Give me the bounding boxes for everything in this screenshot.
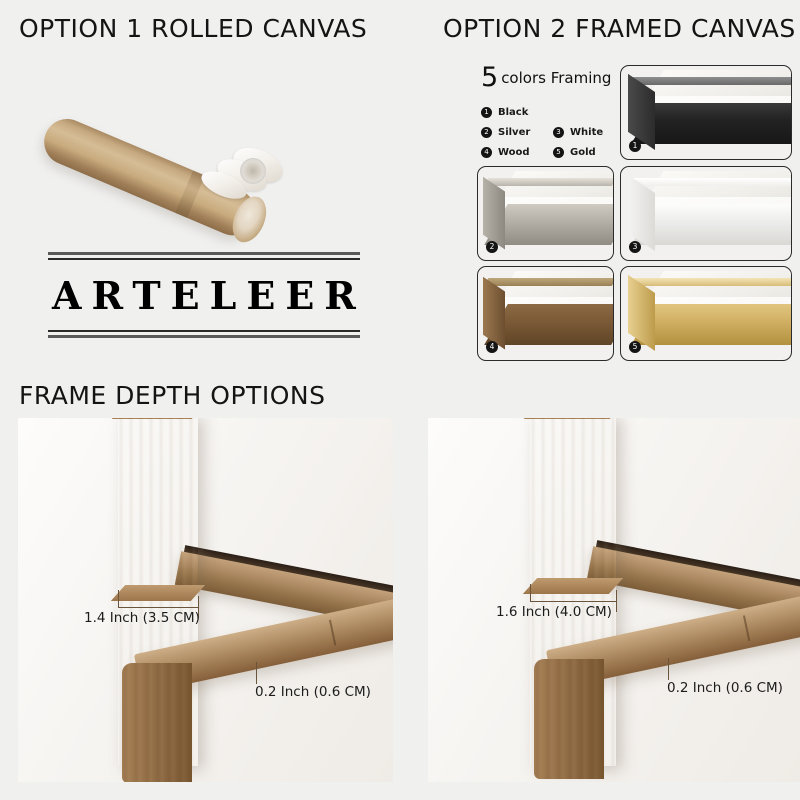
thickness-dimension-tick (256, 662, 257, 684)
frame-profile-end-cap (122, 663, 192, 782)
frame-corner-render (478, 267, 613, 360)
frame-top-edge (484, 278, 614, 286)
tube-end-cap (226, 191, 272, 247)
legend-title-text: colors Framing (501, 69, 611, 87)
legend-label: White (570, 127, 603, 138)
depth-dimension-tick (530, 584, 531, 602)
depth-dimension-label: 1.6 Inch (4.0 CM) (496, 604, 612, 620)
frame-front-face (631, 204, 792, 245)
depth-dimension-line (530, 601, 616, 602)
thickness-dimension-label: 0.2 Inch (0.6 CM) (667, 680, 783, 696)
tile-badge-4-icon: 4 (486, 341, 498, 353)
badge-1-icon: 1 (481, 107, 492, 118)
frame-sample-gold[interactable]: 5 (620, 266, 792, 361)
frame-side-return (483, 276, 505, 348)
frame-corner-render (478, 167, 613, 260)
depth-dimension-tick (616, 590, 617, 612)
rolled-canvas-illustration (40, 58, 302, 198)
logo-rule-bottom (48, 330, 360, 338)
depth-dimension-line (118, 607, 198, 608)
frame-corner-render (621, 167, 791, 260)
tile-badge-1-icon: 1 (629, 140, 641, 152)
badge-2-icon: 2 (481, 127, 492, 138)
frame-sample-black[interactable]: 1 (620, 65, 792, 160)
frame-top-edge (629, 77, 792, 85)
logo-rule-top (48, 252, 360, 260)
frame-top-edge (484, 178, 614, 186)
frame-sample-wood[interactable]: 4 (477, 266, 614, 361)
stile-bottom-mitre (523, 578, 623, 594)
thickness-dimension-tick (668, 658, 669, 680)
badge-4-icon: 4 (481, 147, 492, 158)
legend-item-wood[interactable]: 4 Wood (481, 147, 553, 158)
frame-colors-legend: 5colors Framing 1 Black 2 Silver 3 White… (481, 62, 626, 167)
legend-item-gold[interactable]: 5 Gold (553, 147, 625, 158)
legend-item-black[interactable]: 1 Black (481, 107, 553, 118)
depth-dimension-tick (118, 590, 119, 608)
frame-front-face (631, 103, 792, 144)
badge-5-icon: 5 (553, 147, 564, 158)
frame-side-return (483, 176, 505, 248)
legend-row: 1 Black (481, 107, 626, 118)
frame-profile-end-cap (534, 659, 604, 779)
legend-title: 5colors Framing (481, 62, 626, 93)
frame-top-edge (629, 278, 792, 286)
frame-sample-silver[interactable]: 2 (477, 166, 614, 261)
strip-seam (743, 615, 750, 641)
frame-corner-render (621, 66, 791, 159)
tile-badge-2-icon: 2 (486, 241, 498, 253)
frame-sample-white[interactable]: 3 (620, 166, 792, 261)
frame-front-face (631, 304, 792, 345)
depth-dimension-label: 1.4 Inch (3.5 CM) (84, 610, 200, 626)
frame-depth-photo-1: 1.4 Inch (3.5 CM) 0.2 Inch (0.6 CM) (18, 418, 393, 782)
legend-label: Gold (570, 147, 596, 158)
legend-count: 5 (481, 62, 498, 93)
frame-corner-render (621, 267, 791, 360)
frame-top-edge (629, 178, 792, 186)
tile-badge-5-icon: 5 (629, 341, 641, 353)
option2-heading: OPTION 2 FRAMED CANVAS (443, 14, 796, 43)
legend-row: 4 Wood 5 Gold (481, 147, 626, 158)
tile-badge-3-icon: 3 (629, 241, 641, 253)
frame-depth-photo-2: 1.6 Inch (4.0 CM) 0.2 Inch (0.6 CM) (428, 418, 800, 782)
thickness-dimension-label: 0.2 Inch (0.6 CM) (255, 684, 371, 700)
frame-depth-heading: FRAME DEPTH OPTIONS (19, 381, 325, 410)
legend-label: Black (498, 107, 528, 118)
legend-item-silver[interactable]: 2 Silver (481, 127, 553, 138)
legend-label: Wood (498, 147, 530, 158)
legend-row: 2 Silver 3 White (481, 127, 626, 138)
badge-3-icon: 3 (553, 127, 564, 138)
stile-top-mitre (524, 418, 623, 419)
brand-name: ARTELEER (48, 260, 360, 330)
stile-bottom-mitre (111, 585, 205, 601)
legend-item-white[interactable]: 3 White (553, 127, 625, 138)
legend-label: Silver (498, 127, 530, 138)
stile-top-mitre (112, 418, 205, 419)
option1-heading: OPTION 1 ROLLED CANVAS (19, 14, 367, 43)
strip-seam (329, 620, 336, 646)
brand-logo: ARTELEER (48, 252, 360, 338)
